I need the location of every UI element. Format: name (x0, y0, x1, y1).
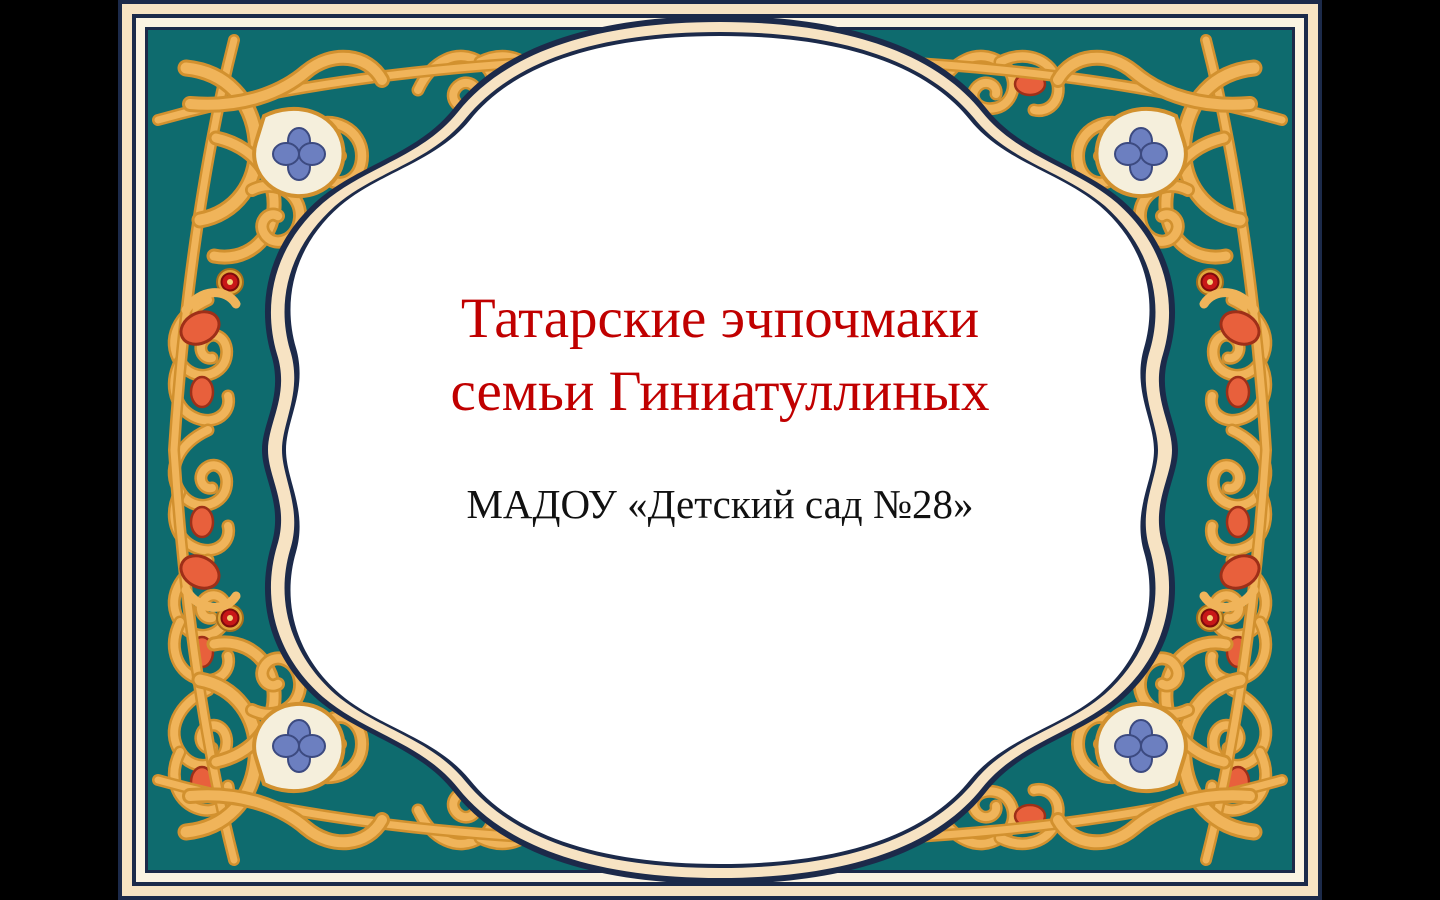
ornamental-frame: Татарские эчпочмаки семьи Гиниатуллиных … (118, 0, 1322, 900)
ornamental-border-graphic (118, 0, 1322, 900)
letterbox-bar-left (0, 0, 118, 900)
letterbox-bar-right (1322, 0, 1440, 900)
slide-canvas: Татарские эчпочмаки семьи Гиниатуллиных … (0, 0, 1440, 900)
